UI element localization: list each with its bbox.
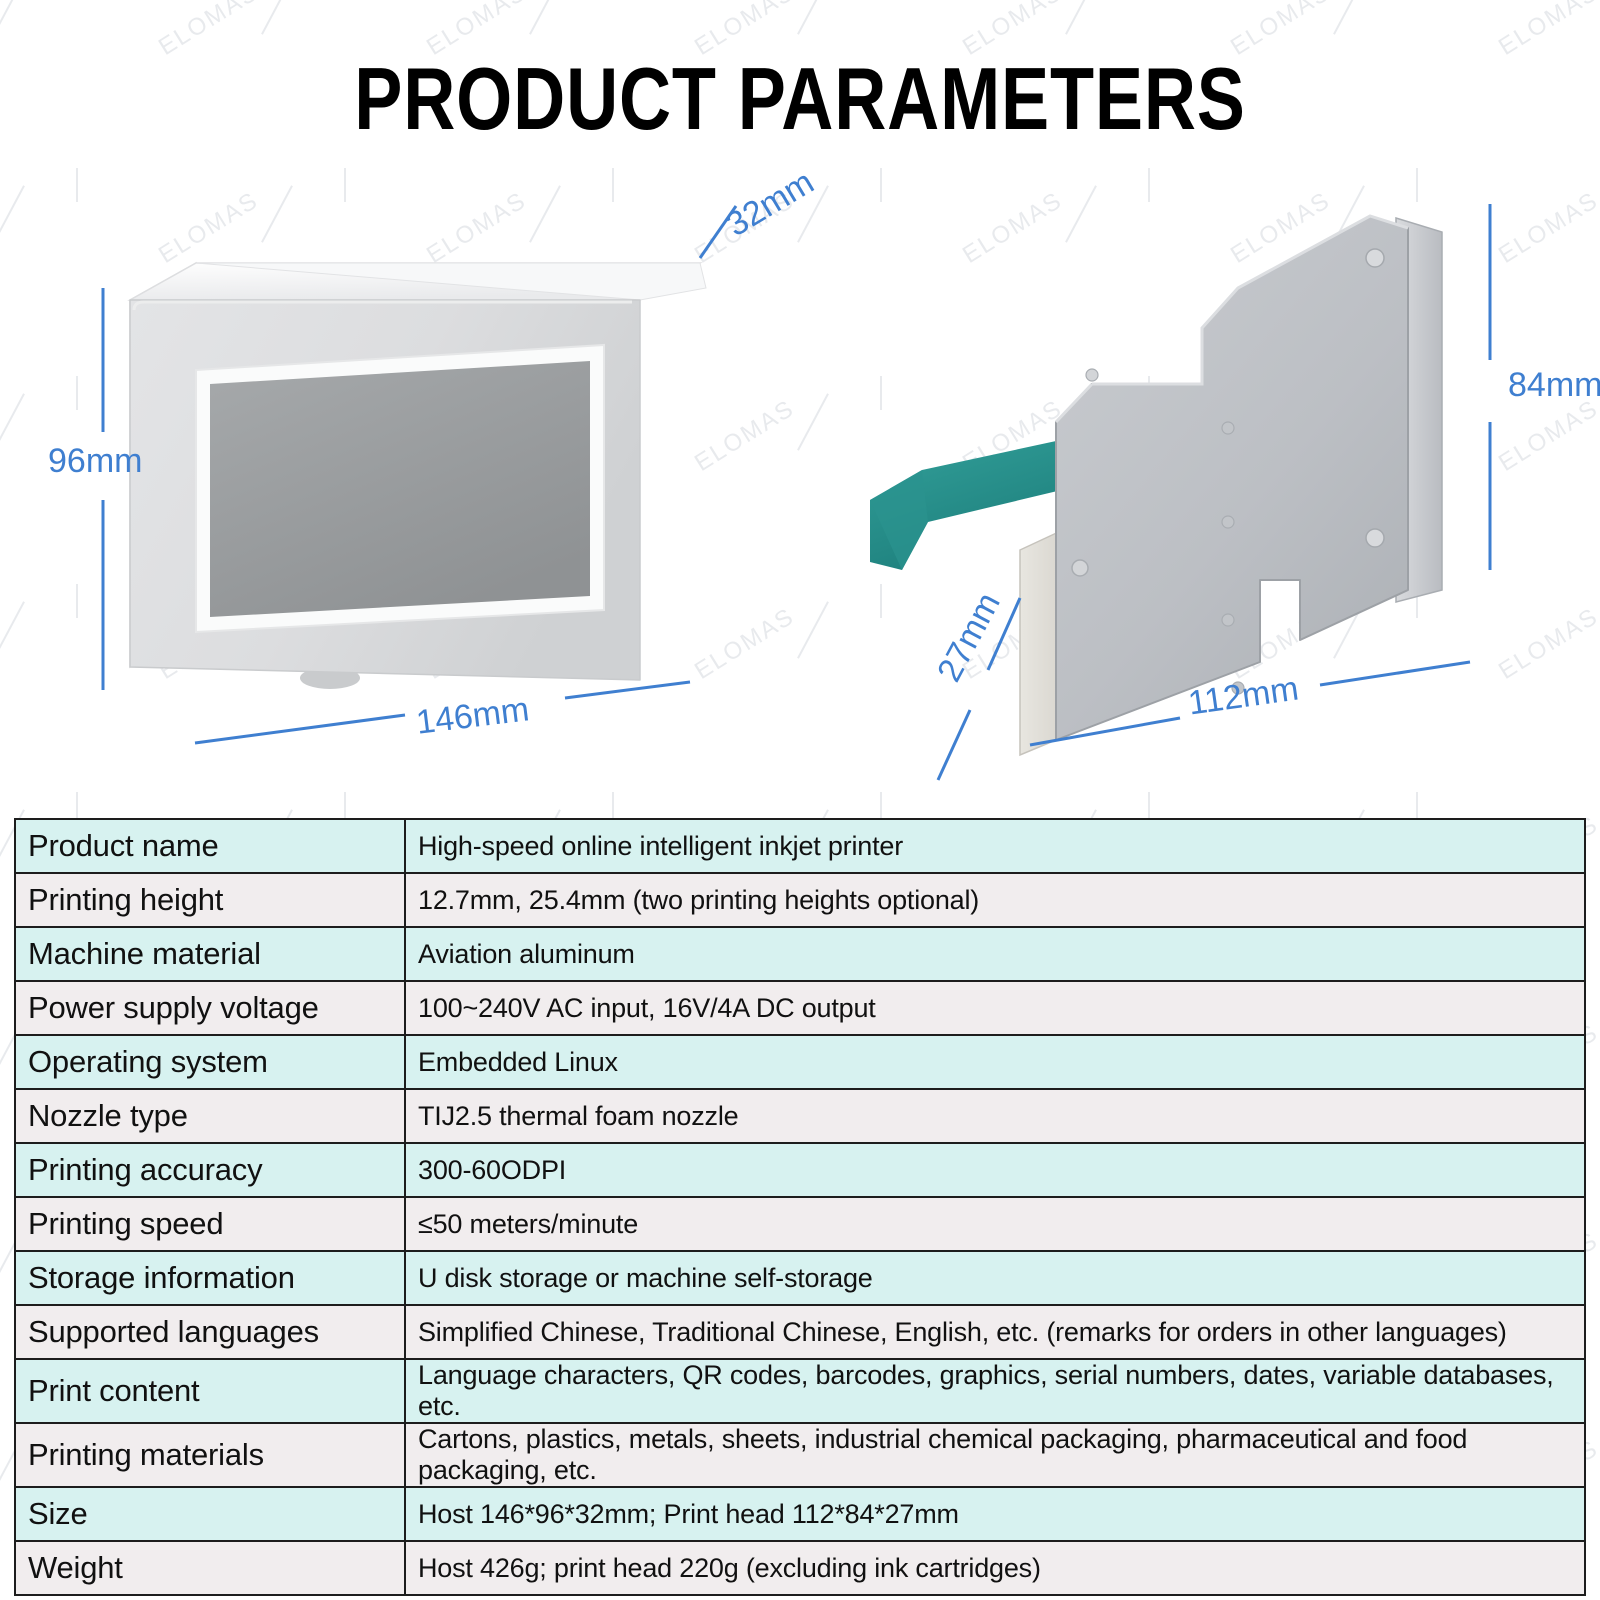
product-parameters-page: ELOMASELOMASELOMASELOMASELOMASELOMASELOM… [0, 0, 1600, 1600]
watermark-slash [1333, 0, 1365, 35]
table-row: Printing accuracy300-60ODPI [15, 1143, 1585, 1197]
table-row: Printing speed≤50 meters/minute [15, 1197, 1585, 1251]
spec-key-cell: Machine material [15, 927, 405, 981]
watermark-slash [529, 0, 561, 35]
page-title: PRODUCT PARAMETERS [144, 48, 1456, 150]
spec-key-cell: Printing materials [15, 1423, 405, 1487]
table-row: SizeHost 146*96*32mm; Print head 112*84*… [15, 1487, 1585, 1541]
table-row: Print contentLanguage characters, QR cod… [15, 1359, 1585, 1423]
watermark-tile: ELOMAS [0, 0, 110, 150]
spec-key-cell: Size [15, 1487, 405, 1541]
table-row: WeightHost 426g; print head 220g (exclud… [15, 1541, 1585, 1595]
spec-key-cell: Printing height [15, 873, 405, 927]
spec-value-cell: 300-60ODPI [405, 1143, 1585, 1197]
table-row: Printing materialsCartons, plastics, met… [15, 1423, 1585, 1487]
spec-key-cell: Supported languages [15, 1305, 405, 1359]
spec-key-cell: Weight [15, 1541, 405, 1595]
spec-table: Product nameHigh-speed online intelligen… [14, 818, 1586, 1596]
spec-value-cell: Host 146*96*32mm; Print head 112*84*27mm [405, 1487, 1585, 1541]
spec-table-body: Product nameHigh-speed online intelligen… [15, 819, 1585, 1595]
spec-value-cell: Cartons, plastics, metals, sheets, indus… [405, 1423, 1585, 1487]
watermark-slash [261, 0, 293, 35]
spec-key-cell: Print content [15, 1359, 405, 1423]
spec-value-cell: 12.7mm, 25.4mm (two printing heights opt… [405, 873, 1585, 927]
spec-value-cell: TIJ2.5 thermal foam nozzle [405, 1089, 1585, 1143]
table-row: Product nameHigh-speed online intelligen… [15, 819, 1585, 873]
spec-key-cell: Product name [15, 819, 405, 873]
spec-key-cell: Printing accuracy [15, 1143, 405, 1197]
watermark-slash [1065, 0, 1097, 35]
spec-key-cell: Power supply voltage [15, 981, 405, 1035]
spec-key-cell: Nozzle type [15, 1089, 405, 1143]
table-row: Storage informationU disk storage or mac… [15, 1251, 1585, 1305]
spec-value-cell: Language characters, QR codes, barcodes,… [405, 1359, 1585, 1423]
spec-key-cell: Storage information [15, 1251, 405, 1305]
table-row: Supported languagesSimplified Chinese, T… [15, 1305, 1585, 1359]
dimension-label-84mm: 84mm [1508, 366, 1600, 405]
table-row: Power supply voltage100~240V AC input, 1… [15, 981, 1585, 1035]
spec-value-cell: ≤50 meters/minute [405, 1197, 1585, 1251]
spec-value-cell: Host 426g; print head 220g (excluding in… [405, 1541, 1585, 1595]
spec-value-cell: Aviation aluminum [405, 927, 1585, 981]
watermark-slash [797, 0, 829, 35]
table-row: Operating systemEmbedded Linux [15, 1035, 1585, 1089]
spec-value-cell: Simplified Chinese, Traditional Chinese,… [405, 1305, 1585, 1359]
table-row: Printing height12.7mm, 25.4mm (two print… [15, 873, 1585, 927]
spec-value-cell: Embedded Linux [405, 1035, 1585, 1089]
spec-value-cell: U disk storage or machine self-storage [405, 1251, 1585, 1305]
dimension-label-96mm: 96mm [48, 442, 142, 481]
spec-key-cell: Operating system [15, 1035, 405, 1089]
spec-value-cell: 100~240V AC input, 16V/4A DC output [405, 981, 1585, 1035]
spec-key-cell: Printing speed [15, 1197, 405, 1251]
watermark-slash [0, 0, 25, 35]
watermark-tile: ELOMAS [1488, 0, 1600, 150]
table-row: Machine materialAviation aluminum [15, 927, 1585, 981]
product-diagrams: 96mm 146mm 32mm [0, 170, 1600, 790]
spec-value-cell: High-speed online intelligent inkjet pri… [405, 819, 1585, 873]
table-row: Nozzle typeTIJ2.5 thermal foam nozzle [15, 1089, 1585, 1143]
watermark-text: ELOMAS [1494, 0, 1600, 62]
